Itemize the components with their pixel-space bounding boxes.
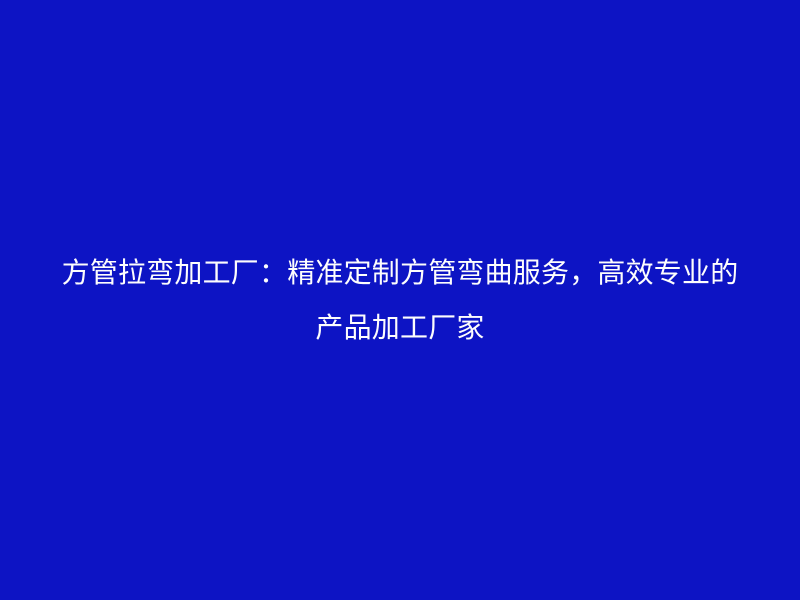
page-title: 方管拉弯加工厂：精准定制方管弯曲服务，高效专业的产品加工厂家 [54,245,746,355]
title-block: 方管拉弯加工厂：精准定制方管弯曲服务，高效专业的产品加工厂家 [50,245,750,355]
title-banner: 方管拉弯加工厂：精准定制方管弯曲服务，高效专业的产品加工厂家 [0,0,800,600]
